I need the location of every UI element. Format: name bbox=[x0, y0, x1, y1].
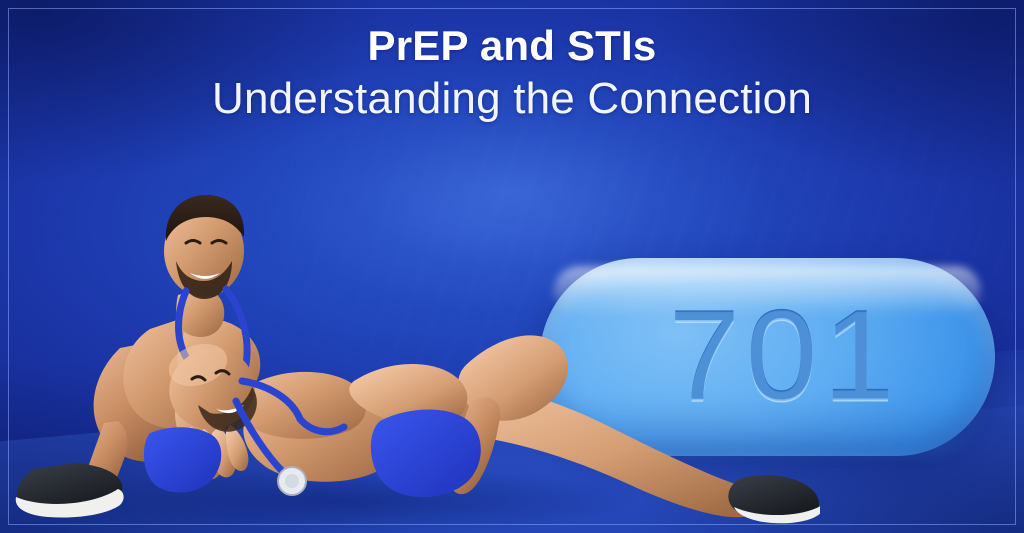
page-subtitle: Understanding the Connection bbox=[0, 75, 1024, 123]
page-title: PrEP and STIs bbox=[0, 24, 1024, 69]
heading-block: PrEP and STIs Understanding the Connecti… bbox=[0, 24, 1024, 123]
models-photo-composite bbox=[0, 133, 820, 533]
promo-banner: PrEP and STIs Understanding the Connecti… bbox=[0, 0, 1024, 533]
sneaker-back-man bbox=[16, 463, 124, 518]
swim-brief-front-man bbox=[371, 409, 481, 497]
